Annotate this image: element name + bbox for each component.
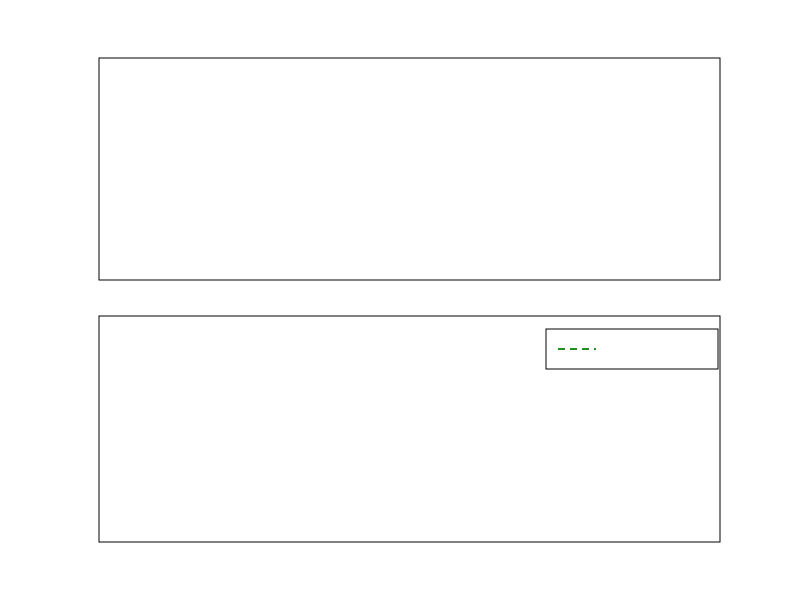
matplotlib-figure xyxy=(0,0,800,600)
figure-background xyxy=(0,0,800,600)
legend[interactable] xyxy=(546,329,718,369)
figure-canvas xyxy=(0,0,800,600)
